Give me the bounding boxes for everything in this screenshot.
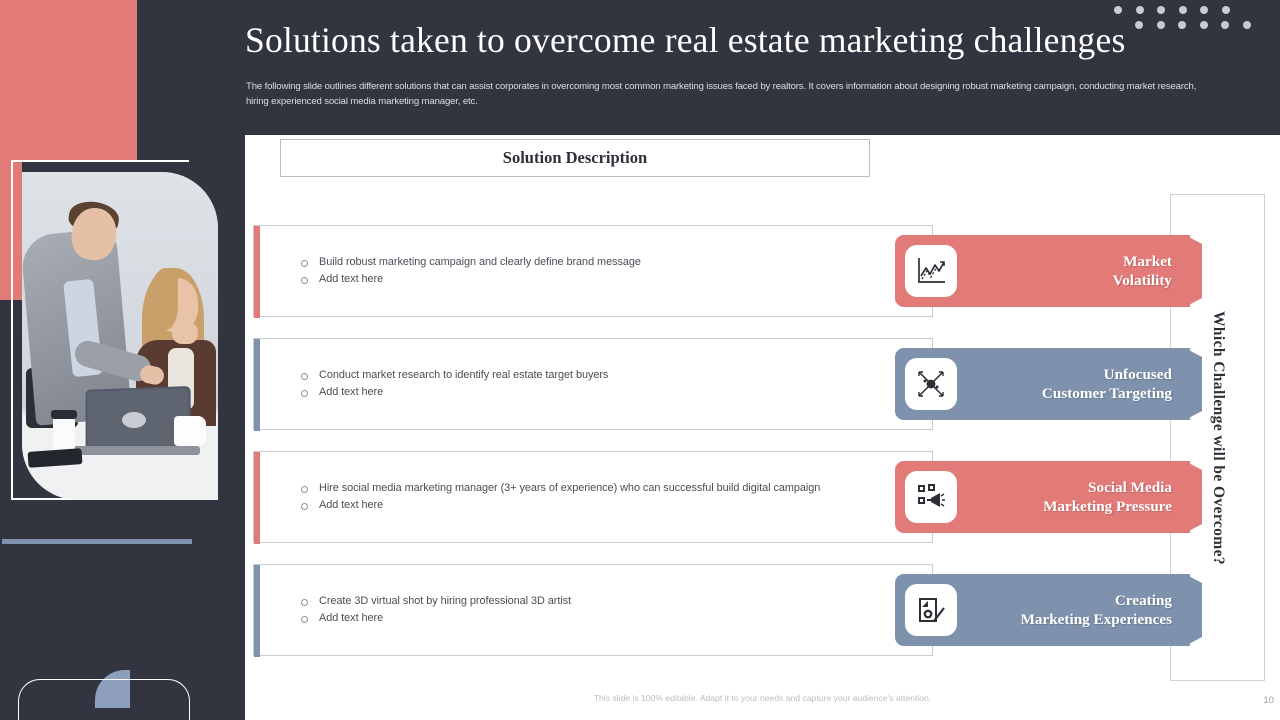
photo-coffee-cup-lid <box>51 410 77 419</box>
solution-row: Conduct market research to identify real… <box>245 338 1190 430</box>
dot-grid-decoration <box>1114 6 1274 40</box>
megaphone-social-icon <box>905 471 957 523</box>
page-number: 10 <box>1263 695 1274 706</box>
solution-row: Create 3D virtual shot by hiring profess… <box>245 564 1190 656</box>
challenge-label-line2: Marketing Experiences <box>957 610 1172 629</box>
red-accent-block <box>0 0 137 161</box>
challenge-label-bar[interactable]: Unfocused Customer Targeting <box>895 348 1190 420</box>
row-accent-bar <box>254 565 260 657</box>
list-item: Build robust marketing campaign and clea… <box>300 254 910 270</box>
page-title: Solutions taken to overcome real estate … <box>245 19 1175 61</box>
challenge-label-line1: Market <box>957 252 1172 271</box>
label-arrow-tip <box>1185 461 1202 533</box>
dot <box>1178 21 1186 29</box>
photo-woman-hand <box>172 322 198 344</box>
challenge-label-text: Creating Marketing Experiences <box>957 591 1190 629</box>
team-meeting-photo <box>22 172 218 500</box>
list-item: Add text here <box>300 497 910 513</box>
description-card: Conduct market research to identify real… <box>253 338 933 430</box>
row-accent-bar <box>254 452 260 544</box>
photo-mug <box>174 416 206 446</box>
dot <box>1157 21 1165 29</box>
dot <box>1179 6 1187 14</box>
challenge-label-line2: Marketing Pressure <box>957 497 1172 516</box>
photo-frame-left-edge <box>11 160 13 500</box>
solution-row: Build robust marketing campaign and clea… <box>245 225 1190 317</box>
scatter-arrows-icon <box>905 358 957 410</box>
row-accent-bar <box>254 339 260 431</box>
slide-header: Solutions taken to overcome real estate … <box>245 0 1280 135</box>
dot <box>1157 6 1165 14</box>
dot <box>1114 6 1122 14</box>
label-arrow-tip <box>1185 348 1202 420</box>
challenge-label-line1: Social Media <box>957 478 1172 497</box>
challenge-label-line1: Unfocused <box>957 365 1172 384</box>
bullet-list: Conduct market research to identify real… <box>300 367 910 401</box>
dot <box>1221 21 1229 29</box>
dot <box>1200 6 1208 14</box>
challenge-question-text: Which Challenge will be Overcome? <box>1209 310 1227 564</box>
dot <box>1200 21 1208 29</box>
solution-description-header: Solution Description <box>280 139 870 177</box>
bottom-rounded-outline <box>18 679 190 720</box>
description-card: Create 3D virtual shot by hiring profess… <box>253 564 933 656</box>
label-arrow-tip <box>1185 235 1202 307</box>
challenge-label-line2: Customer Targeting <box>957 384 1172 403</box>
photo-frame-top-edge <box>11 160 189 162</box>
challenge-label-text: Market Volatility <box>957 252 1190 290</box>
challenge-label-line1: Creating <box>957 591 1172 610</box>
bullet-list: Create 3D virtual shot by hiring profess… <box>300 593 910 627</box>
list-item: Add text here <box>300 610 910 626</box>
dot-row-top <box>1114 6 1274 14</box>
description-card: Hire social media marketing manager (3+ … <box>253 451 933 543</box>
label-arrow-tip <box>1185 574 1202 646</box>
challenge-label-bar[interactable]: Creating Marketing Experiences <box>895 574 1190 646</box>
line-chart-icon <box>905 245 957 297</box>
row-accent-bar <box>254 226 260 318</box>
list-item: Conduct market research to identify real… <box>300 367 910 383</box>
list-item: Hire social media marketing manager (3+ … <box>300 480 910 496</box>
photo-laptop-logo <box>122 412 146 428</box>
challenge-label-bar[interactable]: Market Volatility <box>895 235 1190 307</box>
challenge-label-line2: Volatility <box>957 271 1172 290</box>
blue-divider-line <box>2 539 192 544</box>
solution-row: Hire social media marketing manager (3+ … <box>245 451 1190 543</box>
challenge-label-text: Social Media Marketing Pressure <box>957 478 1190 516</box>
editable-note: This slide is 100% editable. Adapt it to… <box>245 693 1280 703</box>
bullet-list: Build robust marketing campaign and clea… <box>300 254 910 288</box>
bullet-list: Hire social media marketing manager (3+ … <box>300 480 910 514</box>
challenge-label-text: Unfocused Customer Targeting <box>957 365 1190 403</box>
list-item: Create 3D virtual shot by hiring profess… <box>300 593 910 609</box>
list-item: Add text here <box>300 271 910 287</box>
design-screen-icon <box>905 584 957 636</box>
dot <box>1243 21 1251 29</box>
challenge-label-bar[interactable]: Social Media Marketing Pressure <box>895 461 1190 533</box>
description-card: Build robust marketing campaign and clea… <box>253 225 933 317</box>
dot <box>1135 21 1143 29</box>
dot <box>1222 6 1230 14</box>
photo-laptop-base <box>68 446 200 455</box>
list-item: Add text here <box>300 384 910 400</box>
dot <box>1136 6 1144 14</box>
content-panel: Solution Description Which Challenge wil… <box>245 135 1280 720</box>
left-decorative-rail <box>0 0 245 720</box>
slide-subtitle: The following slide outlines different s… <box>246 79 1216 109</box>
dot-row-bottom <box>1135 21 1274 29</box>
